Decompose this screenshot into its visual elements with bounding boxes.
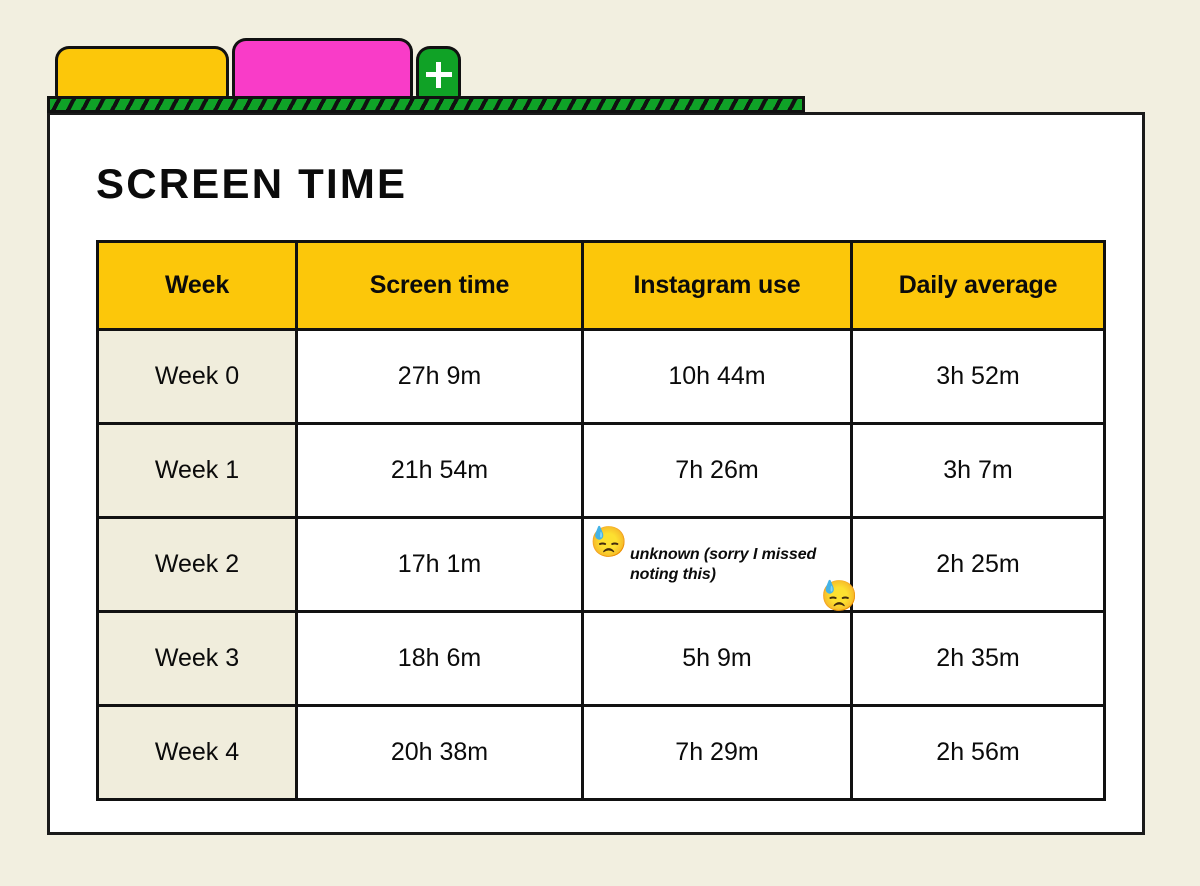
add-tab-button[interactable] <box>416 46 461 98</box>
cell-screen-time: 21h 54m <box>297 424 583 518</box>
table-row: Week 3 18h 6m 5h 9m 2h 35m <box>98 612 1105 706</box>
cell-instagram-use: 7h 29m <box>583 706 852 800</box>
cell-screen-time: 27h 9m <box>297 330 583 424</box>
table-row: Week 4 20h 38m 7h 29m 2h 56m <box>98 706 1105 800</box>
cell-instagram-use: 10h 44m <box>583 330 852 424</box>
plus-icon <box>426 62 452 88</box>
cell-instagram-use: 7h 26m <box>583 424 852 518</box>
cell-screen-time: 17h 1m <box>297 518 583 612</box>
cell-screen-time: 18h 6m <box>297 612 583 706</box>
column-header-screen-time: Screen time <box>297 242 583 330</box>
downcast-face-with-sweat-icon: 😓 <box>821 582 858 612</box>
table-row: Week 2 17h 1m 😓unknown (sorry I missed n… <box>98 518 1105 612</box>
cell-daily-average: 3h 7m <box>852 424 1105 518</box>
cell-week: Week 4 <box>98 706 297 800</box>
cell-instagram-use: 5h 9m <box>583 612 852 706</box>
screen-time-table: Week Screen time Instagram use Daily ave… <box>96 240 1106 801</box>
cell-daily-average: 3h 52m <box>852 330 1105 424</box>
page-title: SCREEN TIME <box>96 160 407 208</box>
tab-pink[interactable] <box>232 38 413 98</box>
cell-week: Week 1 <box>98 424 297 518</box>
column-header-week: Week <box>98 242 297 330</box>
cell-daily-average: 2h 56m <box>852 706 1105 800</box>
cell-daily-average: 2h 25m <box>852 518 1105 612</box>
tab-yellow[interactable] <box>55 46 229 98</box>
column-header-daily-average: Daily average <box>852 242 1105 330</box>
column-header-instagram-use: Instagram use <box>583 242 852 330</box>
cell-week: Week 3 <box>98 612 297 706</box>
table-row: Week 1 21h 54m 7h 26m 3h 7m <box>98 424 1105 518</box>
handwritten-note: 😓unknown (sorry I missed noting this)😓 <box>590 545 844 584</box>
content-card: SCREEN TIME Week Screen time Instagram u… <box>47 112 1145 835</box>
decorative-hatched-rail <box>47 96 805 113</box>
cell-instagram-use-note: 😓unknown (sorry I missed noting this)😓 <box>583 518 852 612</box>
cell-daily-average: 2h 35m <box>852 612 1105 706</box>
table-row: Week 0 27h 9m 10h 44m 3h 52m <box>98 330 1105 424</box>
table-header-row: Week Screen time Instagram use Daily ave… <box>98 242 1105 330</box>
cell-week: Week 2 <box>98 518 297 612</box>
note-text: unknown (sorry I missed noting this) <box>630 546 816 583</box>
downcast-face-with-sweat-icon: 😓 <box>590 528 627 558</box>
cell-week: Week 0 <box>98 330 297 424</box>
cell-screen-time: 20h 38m <box>297 706 583 800</box>
